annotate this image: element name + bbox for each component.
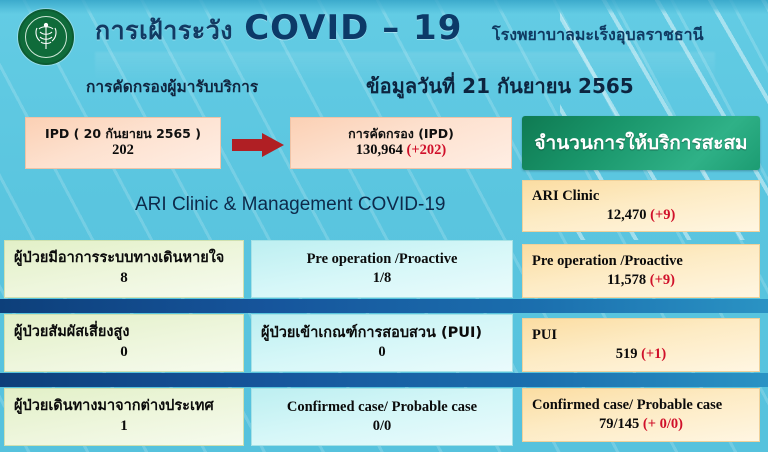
ipd-screening-number: 130,964 [356,142,403,158]
section-title: ARI Clinic & Management COVID-19 [135,194,445,216]
daily-row-pui: ผู้ป่วยเข้าเกณฑ์การสอบสวน (PUI) 0 [251,314,513,372]
subtitle-screening: การคัดกรองผู้มารับบริการ [86,74,258,99]
row-separator-1 [0,299,768,313]
daily-value: 0 [14,342,234,363]
cumulative-row-ari-clinic: ARI Clinic 12,470 (+9) [522,180,760,232]
cumulative-value: 12,470 (+9) [532,205,750,225]
ministry-of-public-health-seal-icon [12,7,74,65]
cumulative-services-label: จำนวนการให้บริการสะสม [534,128,747,158]
cumulative-delta: (+9) [650,207,675,223]
cumulative-number: 519 [616,346,638,362]
daily-label: Pre operation /Proactive [261,250,503,268]
daily-value: 0/0 [261,416,503,436]
ipd-source-box: IPD ( 20 กันยายน 2565 ) 202 [25,117,221,169]
right-arrow-icon [232,133,284,157]
cumulative-label: PUI [532,326,750,344]
daily-label: ผู้ป่วยมีอาการระบบทางเดินหายใจ [14,249,234,267]
row-separator-2 [0,373,768,387]
cumulative-value: 79/145 (+ 0/0) [532,414,750,434]
daily-label: ผู้ป่วยเข้าเกณฑ์การสอบสวน (PUI) [261,324,503,342]
daily-label: Confirmed case/ Probable case [261,398,503,416]
daily-value: 1/8 [261,268,503,288]
hospital-name: โรงพยาบาลมะเร็งอุบลราชธานี [492,23,704,48]
cumulative-row-pui: PUI 519 (+1) [522,318,760,372]
cumulative-label: ARI Clinic [532,187,750,205]
cumulative-services-banner: จำนวนการให้บริการสะสม [522,116,760,170]
daily-value: 0 [261,342,503,362]
daily-row-from-abroad: ผู้ป่วยเดินทางมาจากต่างประเทศ 1 [4,388,244,446]
cumulative-row-pre-operation: Pre operation /Proactive 11,578 (+9) [522,244,760,298]
ipd-screening-delta: (+202) [407,142,447,158]
daily-row-respiratory-symptoms: ผู้ป่วยมีอาการระบบทางเดินหายใจ 8 [4,240,244,298]
daily-label: ผู้ป่วยเดินทางมาจากต่างประเทศ [14,397,234,415]
cumulative-label: Pre operation /Proactive [532,252,750,270]
cumulative-number: 11,578 [607,272,646,288]
daily-label: ผู้ป่วยสัมผัสเสี่ยงสูง [14,323,234,341]
cumulative-delta: (+9) [650,272,675,288]
ipd-source-value: 202 [36,141,210,160]
page-title-covid: COVID – 19 [244,8,462,48]
daily-value: 8 [14,268,234,289]
subtitle-date: ข้อมูลวันที่ 21 กันยายน 2565 [366,70,634,102]
cumulative-number: 79/145 [599,416,639,432]
infographic-root: การเฝ้าระวัง COVID – 19 โรงพยาบาลมะเร็งอ… [0,0,768,452]
cumulative-number: 12,470 [607,207,647,223]
cumulative-delta: (+1) [641,346,666,362]
daily-row-pre-operation: Pre operation /Proactive 1/8 [251,240,513,298]
daily-row-confirmed: Confirmed case/ Probable case 0/0 [251,388,513,446]
daily-value: 1 [14,416,234,437]
ipd-screening-label: การคัดกรอง (IPD) [301,126,501,142]
ipd-screening-value: 130,964 (+202) [301,141,501,160]
ipd-screening-result-box: การคัดกรอง (IPD) 130,964 (+202) [290,117,512,169]
ipd-source-label: IPD ( 20 กันยายน 2565 ) [36,126,210,142]
cumulative-label: Confirmed case/ Probable case [532,396,750,414]
cumulative-value: 11,578 (+9) [532,270,750,290]
page-title: การเฝ้าระวัง COVID – 19 [95,8,462,51]
cumulative-row-confirmed: Confirmed case/ Probable case 79/145 (+ … [522,388,760,442]
header: การเฝ้าระวัง COVID – 19 โรงพยาบาลมะเร็งอ… [0,0,768,108]
cumulative-value: 519 (+1) [532,344,750,364]
cumulative-delta: (+ 0/0) [643,416,683,432]
page-title-thai: การเฝ้าระวัง [95,16,233,45]
daily-row-high-risk-contact: ผู้ป่วยสัมผัสเสี่ยงสูง 0 [4,314,244,372]
